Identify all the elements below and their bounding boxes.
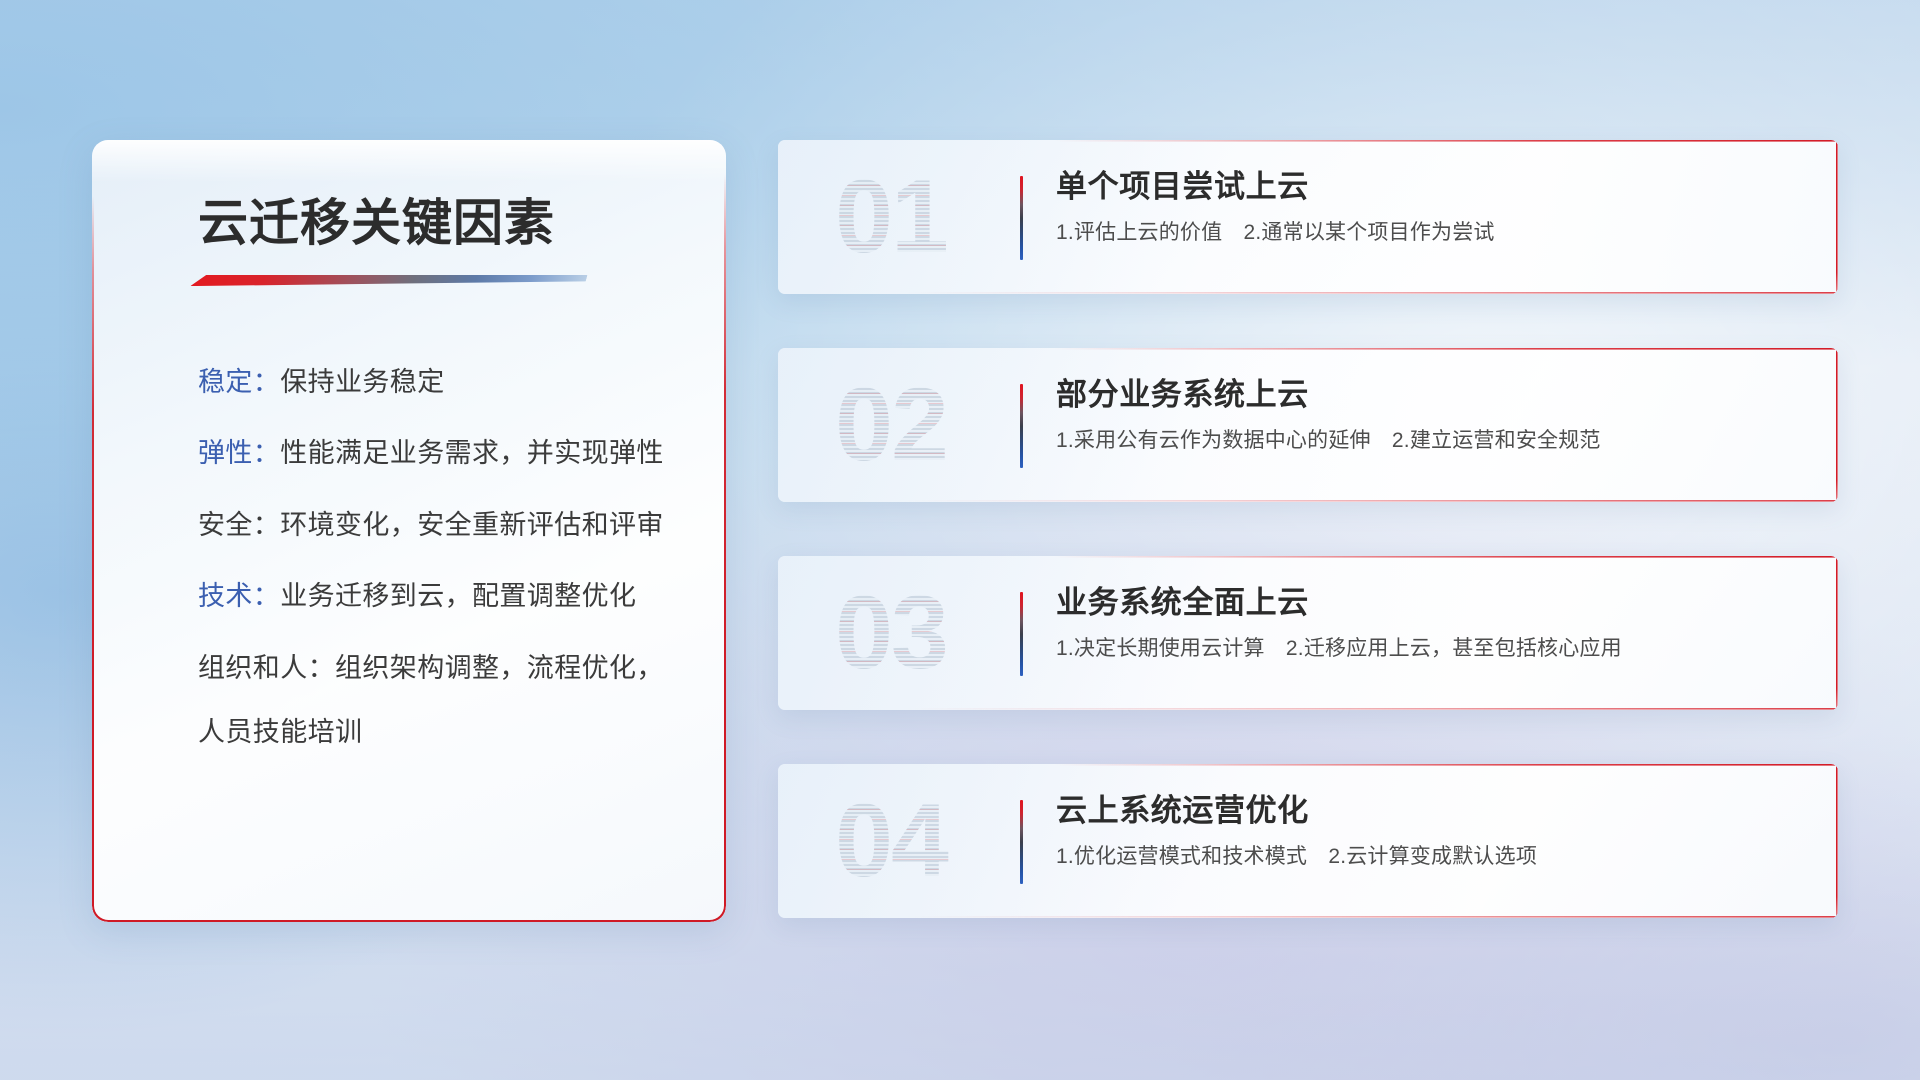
stage-number-accent: 01 (802, 156, 980, 278)
stage-card[interactable]: 03 03 业务系统全面上云 1.决定长期使用云计算 2.迁移应用上云，甚至包括… (778, 556, 1838, 710)
list-item: 技术：业务迁移到云，配置调整优化 (198, 578, 692, 614)
list-item-text: 性能满足业务需求，并实现弹性 (280, 438, 664, 468)
card-subtitle: 1.优化运营模式和技术模式 2.云计算变成默认选项 (1056, 843, 1808, 870)
slide-stage: 云迁移关键因素 稳定：保持业务稳定 弹性：性能满足业务需求，并实现弹性 安全：环… (0, 0, 1920, 1080)
stage-card[interactable]: 02 02 部分业务系统上云 1.采用公有云作为数据中心的延伸 2.建立运营和安… (778, 348, 1838, 502)
stage-number-accent: 02 (802, 364, 980, 486)
list-item-label: 弹性： (198, 438, 280, 468)
list-item-text: 保持业务稳定 (280, 367, 444, 397)
page-title: 云迁移关键因素 (92, 193, 726, 253)
card-title: 云上系统运营优化 (1056, 792, 1808, 831)
card-subtitle: 1.决定长期使用云计算 2.迁移应用上云，甚至包括核心应用 (1056, 635, 1808, 662)
list-item-label: 组织和人： (198, 653, 335, 683)
key-factors-panel: 云迁移关键因素 稳定：保持业务稳定 弹性：性能满足业务需求，并实现弹性 安全：环… (92, 140, 726, 922)
stage-number-accent: 03 (802, 572, 980, 694)
list-item: 组织和人：组织架构调整，流程优化， 人员技能培训 (198, 650, 692, 751)
card-subtitle: 1.评估上云的价值 2.通常以某个项目作为尝试 (1056, 219, 1808, 246)
card-divider-bar (1020, 176, 1023, 260)
list-item-text: 业务迁移到云，配置调整优化 (280, 581, 636, 611)
list-item: 安全：环境变化，安全重新评估和评审 (198, 507, 692, 543)
card-title: 单个项目尝试上云 (1056, 168, 1808, 207)
list-item-text: 组织架构调整，流程优化， (335, 653, 664, 683)
card-subtitle: 1.采用公有云作为数据中心的延伸 2.建立运营和安全规范 (1056, 427, 1808, 454)
list-item-text-continued: 人员技能培训 (198, 714, 692, 750)
list-item: 稳定：保持业务稳定 (198, 364, 692, 400)
card-divider-bar (1020, 592, 1023, 676)
list-item: 弹性：性能满足业务需求，并实现弹性 (198, 435, 692, 471)
stage-card[interactable]: 01 01 单个项目尝试上云 1.评估上云的价值 2.通常以某个项目作为尝试 (778, 140, 1838, 294)
list-item-text: 环境变化，安全重新评估和评审 (280, 510, 664, 540)
key-factors-list: 稳定：保持业务稳定 弹性：性能满足业务需求，并实现弹性 安全：环境变化，安全重新… (92, 364, 726, 751)
list-item-label: 稳定： (198, 367, 280, 397)
migration-stage-cards: 01 01 单个项目尝试上云 1.评估上云的价值 2.通常以某个项目作为尝试 0… (778, 140, 1838, 918)
list-item-label: 技术： (198, 581, 280, 611)
stage-number-accent: 04 (802, 780, 980, 902)
card-title: 部分业务系统上云 (1056, 376, 1808, 415)
stage-card[interactable]: 04 04 云上系统运营优化 1.优化运营模式和技术模式 2.云计算变成默认选项 (778, 764, 1838, 918)
card-divider-bar (1020, 384, 1023, 468)
card-title: 业务系统全面上云 (1056, 584, 1808, 623)
card-divider-bar (1020, 800, 1023, 884)
title-underline-gradient (190, 275, 587, 286)
list-item-label: 安全： (198, 510, 280, 540)
